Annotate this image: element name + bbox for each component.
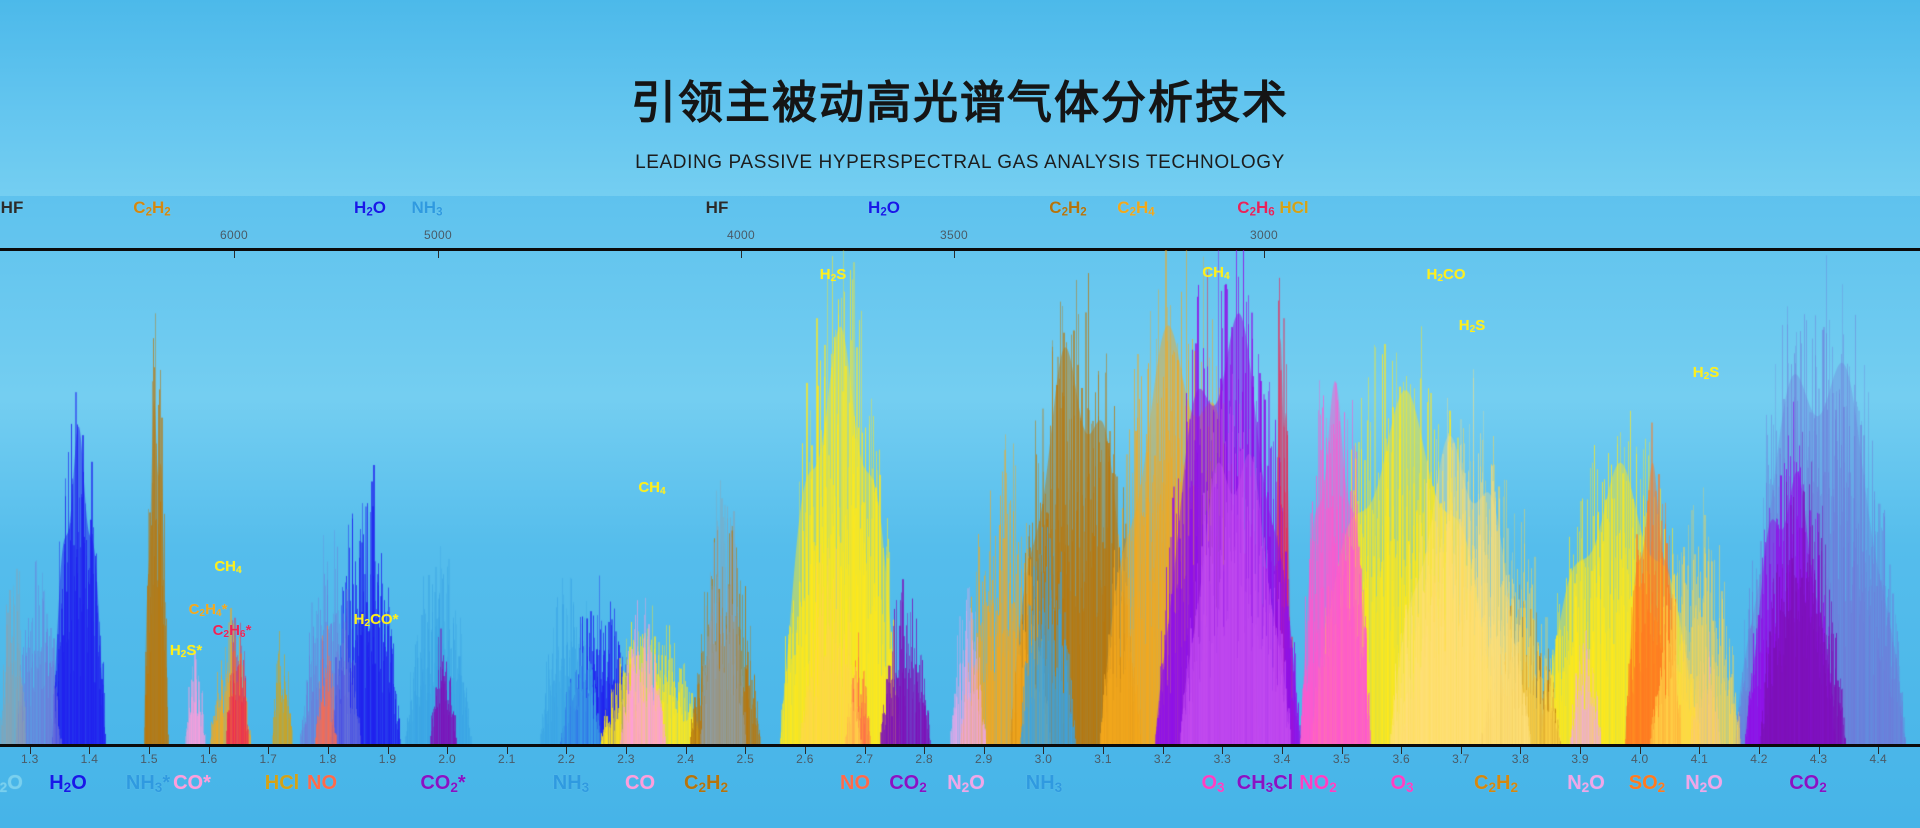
top-tick-label: 3000 [1250, 228, 1278, 242]
top-gas-label: H2O [868, 198, 900, 219]
bottom-gas-label: H2O [49, 772, 87, 795]
bottom-gas-label: CO* [173, 772, 211, 795]
bottom-gas-label: SO2 [1629, 772, 1665, 795]
bottom-gas-label: NO [307, 772, 337, 795]
bottom-gas-label: CH3Cl [1237, 772, 1293, 795]
top-gas-label: C2H2 [133, 198, 170, 219]
bottom-gas-label: CO2 [889, 772, 927, 795]
bottom-tick-label: 1.6 [200, 752, 218, 766]
bottom-tick-label: 4.4 [1869, 752, 1887, 766]
spectrum-canvas [0, 250, 1920, 744]
bottom-gas-label: C2H2 [684, 772, 728, 795]
top-tick-label: 3500 [940, 228, 968, 242]
bottom-gas-label: N2O [1685, 772, 1723, 795]
bottom-tick-label: 2.3 [617, 752, 635, 766]
top-tick-label: 5000 [424, 228, 452, 242]
bottom-tick-label: 3.3 [1214, 752, 1232, 766]
bottom-tick-label: 3.7 [1452, 752, 1470, 766]
top-gas-label: NH3 [412, 198, 443, 219]
top-gas-label: HF [706, 198, 729, 218]
bottom-tick-label: 2.0 [438, 752, 456, 766]
bottom-gas-label: CO [625, 772, 655, 795]
top-gas-label: HCl [1279, 198, 1308, 218]
bottom-tick-label: 2.7 [856, 752, 874, 766]
bottom-gas-label: CO2* [420, 772, 465, 795]
bottom-tick-label: 3.0 [1035, 752, 1053, 766]
bottom-gas-label: O3 [1201, 772, 1224, 795]
bottom-tick-label: 1.7 [260, 752, 278, 766]
bottom-tick-label: 2.9 [975, 752, 993, 766]
bottom-tick-label: 4.2 [1750, 752, 1768, 766]
bottom-tick-label: 3.2 [1154, 752, 1172, 766]
bottom-tick-label: 1.9 [379, 752, 397, 766]
bottom-tick-label: 3.4 [1273, 752, 1291, 766]
page-title: 引领主被动高光谱气体分析技术 [0, 66, 1920, 131]
poster-stage: 引领主被动高光谱气体分析技术 LEADING PASSIVE HYPERSPEC… [0, 0, 1920, 828]
spectrum-plot [0, 250, 1920, 744]
top-tick-label: 6000 [220, 228, 248, 242]
bottom-gas-label: NO [840, 772, 870, 795]
bottom-tick-label: 3.6 [1392, 752, 1410, 766]
top-axis-tick [741, 251, 742, 258]
bottom-gas-label: C2H2 [1474, 772, 1518, 795]
bottom-gas-label: HCl [265, 772, 299, 795]
bottom-gas-label: NO2 [1299, 772, 1337, 795]
bottom-tick-label: 1.3 [21, 752, 39, 766]
bottom-gas-label: N2O [947, 772, 985, 795]
bottom-tick-label: 1.8 [319, 752, 337, 766]
bottom-gas-label: O3 [1390, 772, 1413, 795]
top-gas-label: H2O [354, 198, 386, 219]
bottom-gas-label: NH3 [553, 772, 589, 795]
top-gas-label: C2H6 [1237, 198, 1274, 219]
bottom-tick-label: 1.5 [140, 752, 158, 766]
bottom-tick-label: 2.1 [498, 752, 516, 766]
bottom-tick-label: 1.4 [81, 752, 99, 766]
poster-header: 引领主被动高光谱气体分析技术 LEADING PASSIVE HYPERSPEC… [0, 0, 1920, 196]
bottom-tick-label: 2.5 [737, 752, 755, 766]
bottom-tick-label: 2.8 [915, 752, 933, 766]
top-axis-tick [234, 251, 235, 258]
bottom-tick-label: 3.9 [1571, 752, 1589, 766]
bottom-axis-line [0, 744, 1920, 747]
top-axis-tick [1264, 251, 1265, 258]
bottom-gas-label: NH3 [1026, 772, 1062, 795]
top-axis-tick [954, 251, 955, 258]
bottom-gas-label: CO2 [1789, 772, 1827, 795]
bottom-tick-label: 4.3 [1810, 752, 1828, 766]
top-axis-tick [438, 251, 439, 258]
top-gas-label: C2H2 [1049, 198, 1086, 219]
bottom-tick-label: 3.8 [1512, 752, 1530, 766]
top-gas-label: C2H4 [1117, 198, 1154, 219]
bottom-tick-label: 3.5 [1333, 752, 1351, 766]
top-gas-label: HF [1, 198, 24, 218]
bottom-gas-label: NH3* [126, 772, 170, 795]
bottom-tick-label: 4.0 [1631, 752, 1649, 766]
bottom-gas-label: N2O [1567, 772, 1605, 795]
bottom-tick-label: 2.6 [796, 752, 814, 766]
bottom-tick-label: 3.1 [1094, 752, 1112, 766]
bottom-tick-label: 2.2 [558, 752, 576, 766]
page-subtitle: LEADING PASSIVE HYPERSPECTRAL GAS ANALYS… [0, 152, 1920, 174]
bottom-tick-label: 4.1 [1691, 752, 1709, 766]
bottom-gas-label: N2O [0, 772, 23, 795]
bottom-tick-label: 2.4 [677, 752, 695, 766]
top-tick-label: 4000 [727, 228, 755, 242]
